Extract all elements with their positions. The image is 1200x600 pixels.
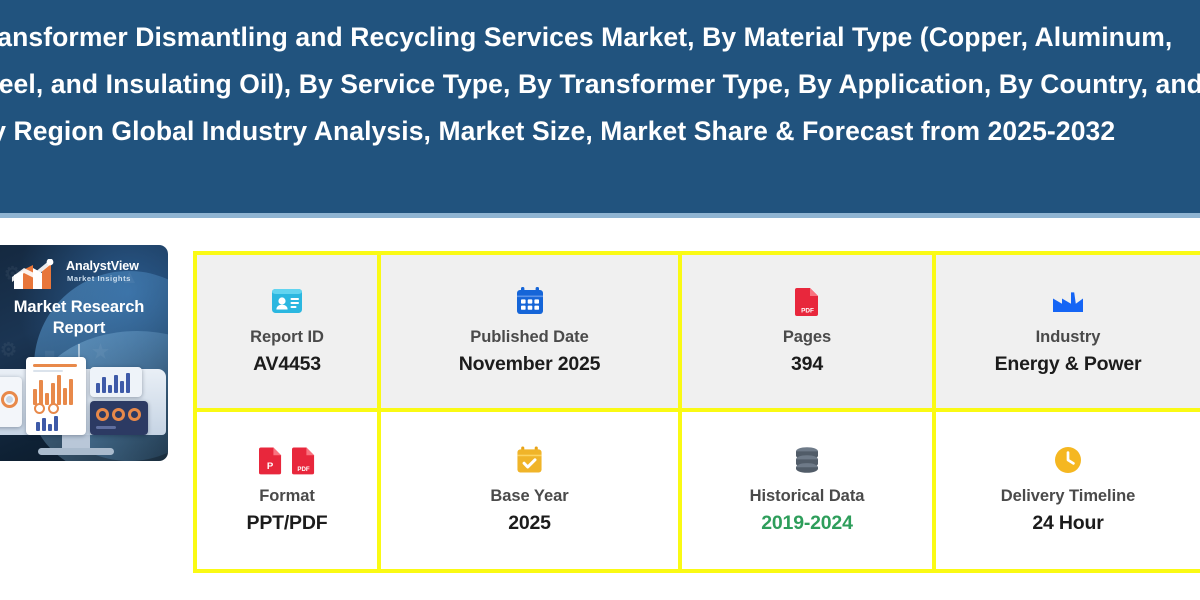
info-cell-industry: Industry Energy & Power: [936, 255, 1200, 412]
info-cell-report-id: Report ID AV4453: [197, 255, 381, 412]
logo-mark-icon: [10, 259, 56, 291]
info-label: Pages: [783, 327, 831, 347]
svg-text:P: P: [266, 461, 273, 472]
chart-panel-center: [26, 357, 86, 435]
svg-text:PDF: PDF: [801, 307, 814, 314]
id-card-icon: [271, 284, 303, 318]
ppt-pdf-files-icon: P PDF: [259, 443, 316, 477]
info-label: Format: [259, 486, 315, 506]
monitor-base: [38, 448, 114, 455]
chart-panel-bottom-right: [90, 401, 148, 435]
ppt-file-icon: P: [259, 445, 283, 475]
info-value: 24 Hour: [1032, 512, 1103, 535]
factory-icon: [1052, 284, 1084, 318]
info-value: 2025: [508, 512, 551, 535]
info-cell-delivery-timeline: Delivery Timeline 24 Hour: [936, 412, 1200, 569]
page-title: Transformer Dismantling and Recycling Se…: [0, 14, 1200, 155]
report-header-banner: Transformer Dismantling and Recycling Se…: [0, 0, 1200, 213]
info-value: November 2025: [459, 353, 601, 376]
info-value: 2019-2024: [761, 512, 852, 535]
cover-ghost-glyph: ★: [92, 341, 109, 364]
info-label: Delivery Timeline: [1001, 486, 1136, 506]
monitor-stand: [62, 435, 90, 449]
svg-text:PDF: PDF: [297, 466, 310, 473]
info-cell-historical-data: Historical Data 2019-2024: [682, 412, 936, 569]
info-value: Energy & Power: [995, 353, 1142, 376]
info-label: Industry: [1036, 327, 1101, 347]
chart-panel-top-right: [90, 367, 142, 397]
info-value: PPT/PDF: [247, 512, 328, 535]
database-icon: [793, 443, 821, 477]
analystview-logo: AnalystView Market Insights: [10, 259, 160, 293]
info-cell-base-year: Base Year 2025: [381, 412, 682, 569]
report-info-grid: Report ID AV4453: [193, 251, 1200, 573]
chart-panel-left: [0, 377, 22, 427]
pdf-file-icon: PDF: [795, 284, 820, 318]
cover-ghost-glyph: ⚙: [0, 339, 17, 362]
info-value: 394: [791, 353, 823, 376]
cover-heading: Market Research Report: [0, 297, 168, 339]
info-cell-pages: PDF Pages 394: [682, 255, 936, 412]
info-label: Published Date: [470, 327, 589, 347]
clock-icon: [1054, 443, 1082, 477]
brand-name: AnalystView: [66, 260, 139, 273]
brand-tagline: Market Insights: [67, 274, 131, 283]
info-label: Report ID: [250, 327, 324, 347]
info-cell-format: P PDF Format PPT/PDF: [197, 412, 381, 569]
pdf-file-icon: PDF: [292, 445, 316, 475]
info-cell-published-date: Published Date November 2025: [381, 255, 682, 412]
calendar-check-icon: [516, 443, 543, 477]
cover-dashboard-illustration: [0, 363, 168, 461]
info-label: Historical Data: [750, 486, 865, 506]
report-overview-section: ⚙ ● ▲ ⚙ ■ ★ AnalystView Market Insights …: [0, 218, 1200, 600]
calendar-icon: [516, 284, 544, 318]
report-cover-thumbnail[interactable]: ⚙ ● ▲ ⚙ ■ ★ AnalystView Market Insights …: [0, 245, 168, 461]
info-value: AV4453: [253, 353, 321, 376]
info-label: Base Year: [490, 486, 568, 506]
